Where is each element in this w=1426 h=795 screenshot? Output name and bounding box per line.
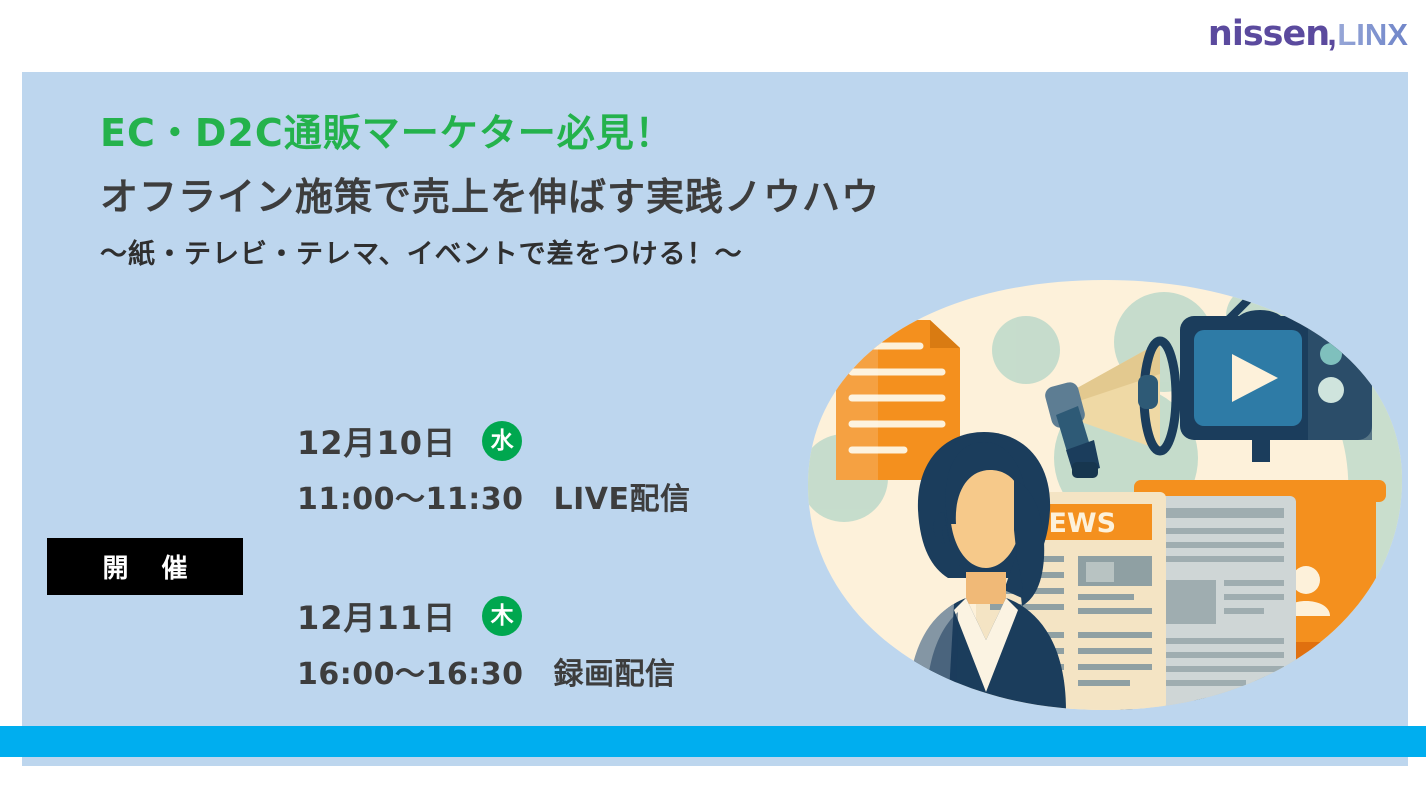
event-label-text: 開 催: [90, 548, 199, 585]
brand-logo: nissen , LINX: [1208, 14, 1408, 54]
brand-name-primary: nissen: [1208, 14, 1329, 54]
decor-circle: [992, 316, 1060, 384]
schedule-date-row: 12月11日 木: [297, 593, 676, 639]
schedule-date: 12月10日: [297, 418, 456, 464]
brand-name-secondary: LINX: [1337, 17, 1408, 53]
schedule-entry: 12月10日 水 11:00〜11:30LIVE配信: [297, 418, 691, 518]
accent-bar: [0, 726, 1426, 757]
webinar-illustration: NEWS: [808, 280, 1402, 710]
event-label-badge: 開 催: [47, 538, 243, 595]
hero-title-line-2: オフライン施策で売上を伸ばす実践ノウハウ: [100, 166, 880, 221]
schedule-delivery-mode: LIVE配信: [554, 482, 691, 517]
schedule-time-row: 16:00〜16:30録画配信: [297, 649, 676, 693]
schedule-time-row: 11:00〜11:30LIVE配信: [297, 474, 691, 518]
schedule-entry: 12月11日 木 16:00〜16:30録画配信: [297, 593, 676, 693]
schedule-time: 11:00〜11:30: [297, 482, 524, 517]
day-of-week-badge: 水: [482, 421, 522, 461]
brand-comma: ,: [1327, 14, 1336, 54]
schedule-date: 12月11日: [297, 593, 456, 639]
hero-subtitle: 〜紙・テレビ・テレマ、イベントで差をつける！〜: [100, 232, 743, 271]
schedule-time: 16:00〜16:30: [297, 657, 524, 692]
hero-title-line-1: EC・D2C通販マーケター必見！: [100, 102, 674, 157]
schedule-delivery-mode: 録画配信: [554, 657, 676, 692]
day-of-week-badge: 木: [482, 596, 522, 636]
schedule-date-row: 12月10日 水: [297, 418, 691, 464]
